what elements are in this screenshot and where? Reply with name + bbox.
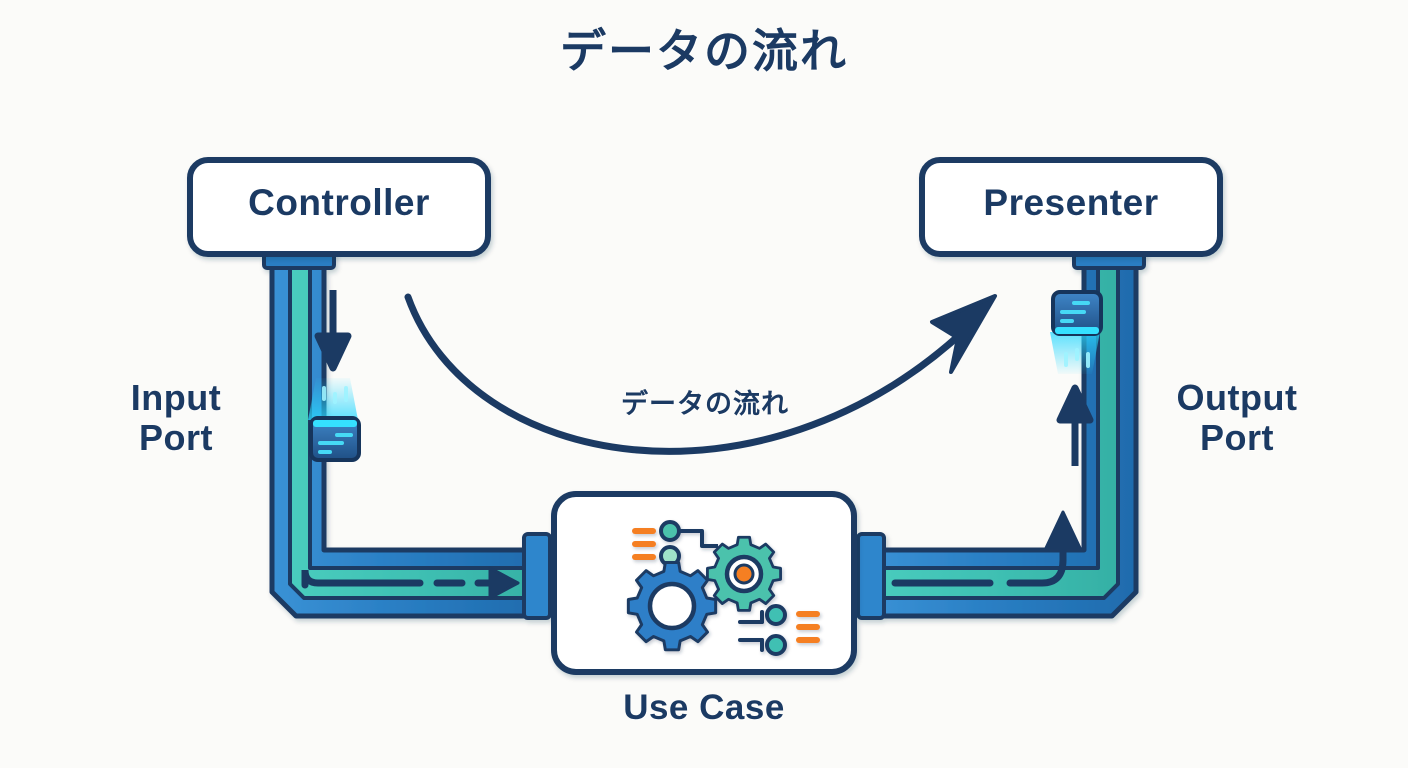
page-title: データの流れ (0, 26, 1408, 78)
output-pipe-end-flange (858, 534, 884, 618)
input-port-label: InputPort (96, 378, 256, 459)
gear-icon (707, 537, 780, 610)
gear-icon (628, 562, 715, 649)
input-port-pipe (264, 252, 550, 618)
output-port-label: OutputPort (1152, 378, 1322, 459)
input-port-label-line1: Input (131, 377, 221, 418)
data-chip-icon (308, 378, 359, 460)
use-case-label: Use Case (554, 688, 854, 727)
input-pipe-end-flange (524, 534, 550, 618)
presenter-label: Presenter (922, 182, 1220, 223)
diagram-canvas: データの流れ Controller Presenter Use Case Inp… (0, 0, 1408, 768)
controller-label: Controller (190, 182, 488, 223)
input-port-label-line2: Port (139, 417, 213, 458)
data-chip-icon (1050, 292, 1101, 374)
curved-arrow-icon (408, 296, 995, 451)
output-port-label-line1: Output (1177, 377, 1298, 418)
flow-arrow-label: データの流れ (575, 390, 835, 420)
output-port-label-line2: Port (1200, 417, 1274, 458)
